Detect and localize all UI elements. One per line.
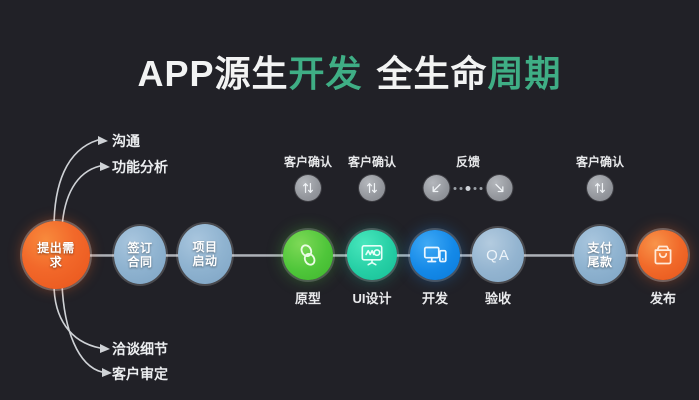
node-contract-label: 签订合同: [125, 241, 155, 269]
node-kickoff-label: 项目启动: [190, 240, 220, 268]
marker-confirm-2[interactable]: 客户确认: [348, 155, 396, 201]
title-part1-green: 开发: [288, 53, 362, 94]
feedback-dots: [454, 186, 483, 191]
node-payment[interactable]: 支付尾款: [574, 226, 626, 284]
node-requirement-label: 提出需求: [37, 241, 75, 269]
marker-confirm-2-bubble[interactable]: [359, 175, 385, 201]
diagram-canvas: APP源生开发全生命周期 沟通 功能分析 洽谈细节 客户审定 提出需求 签订合同…: [0, 0, 699, 400]
title-part2-plain: 全生命: [377, 53, 488, 94]
arrow-down-left-icon: [430, 181, 444, 195]
node-requirement[interactable]: 提出需求: [22, 221, 90, 289]
node-prototype[interactable]: [283, 230, 333, 280]
node-payment-label: 支付尾款: [585, 241, 615, 269]
branch-label-feature-analysis: 功能分析: [112, 157, 168, 177]
node-development[interactable]: [410, 230, 460, 280]
node-prototype-under-label: 原型: [295, 288, 321, 307]
marker-confirm-3[interactable]: 客户确认: [576, 155, 624, 201]
up-down-arrows-icon: [301, 181, 315, 195]
node-development-under-label: 开发: [422, 288, 448, 307]
marker-confirm-1-label: 客户确认: [284, 155, 332, 169]
node-publish[interactable]: [638, 230, 688, 280]
node-contract[interactable]: 签订合同: [114, 226, 166, 284]
marker-feedback-label: 反馈: [424, 155, 513, 169]
node-uidesign[interactable]: [347, 230, 397, 280]
up-down-arrows-icon: [365, 181, 379, 195]
marker-confirm-3-bubble[interactable]: [587, 175, 613, 201]
branch-label-client-approval: 客户审定: [112, 364, 168, 384]
node-uidesign-under-label: UI设计: [352, 288, 391, 307]
title-part1-plain: APP源生: [137, 53, 288, 94]
marker-confirm-3-label: 客户确认: [576, 155, 624, 169]
node-kickoff[interactable]: 项目启动: [178, 224, 232, 284]
node-qa-under-label: 验收: [485, 288, 511, 307]
feedback-right-bubble[interactable]: [487, 175, 513, 201]
marker-confirm-2-label: 客户确认: [348, 155, 396, 169]
chain-link-icon: [295, 242, 321, 268]
shopping-bag-icon: [650, 242, 676, 268]
feedback-left-bubble[interactable]: [424, 175, 450, 201]
page-title: APP源生开发全生命周期: [0, 52, 699, 96]
up-down-arrows-icon: [593, 181, 607, 195]
marker-confirm-1[interactable]: 客户确认: [284, 155, 332, 201]
title-part2-green: 周期: [488, 53, 562, 94]
branch-label-negotiation: 洽谈细节: [112, 339, 168, 359]
node-publish-under-label: 发布: [650, 288, 676, 307]
feedback-arrows-icon[interactable]: [424, 175, 513, 201]
node-qa-label: QA: [486, 247, 510, 264]
design-board-icon: [358, 241, 386, 269]
marker-confirm-1-bubble[interactable]: [295, 175, 321, 201]
arrow-down-right-icon: [493, 181, 507, 195]
marker-feedback[interactable]: 反馈: [424, 155, 513, 201]
branch-label-communication: 沟通: [112, 131, 140, 151]
devices-icon: [421, 241, 449, 269]
node-qa[interactable]: QA: [472, 228, 524, 282]
